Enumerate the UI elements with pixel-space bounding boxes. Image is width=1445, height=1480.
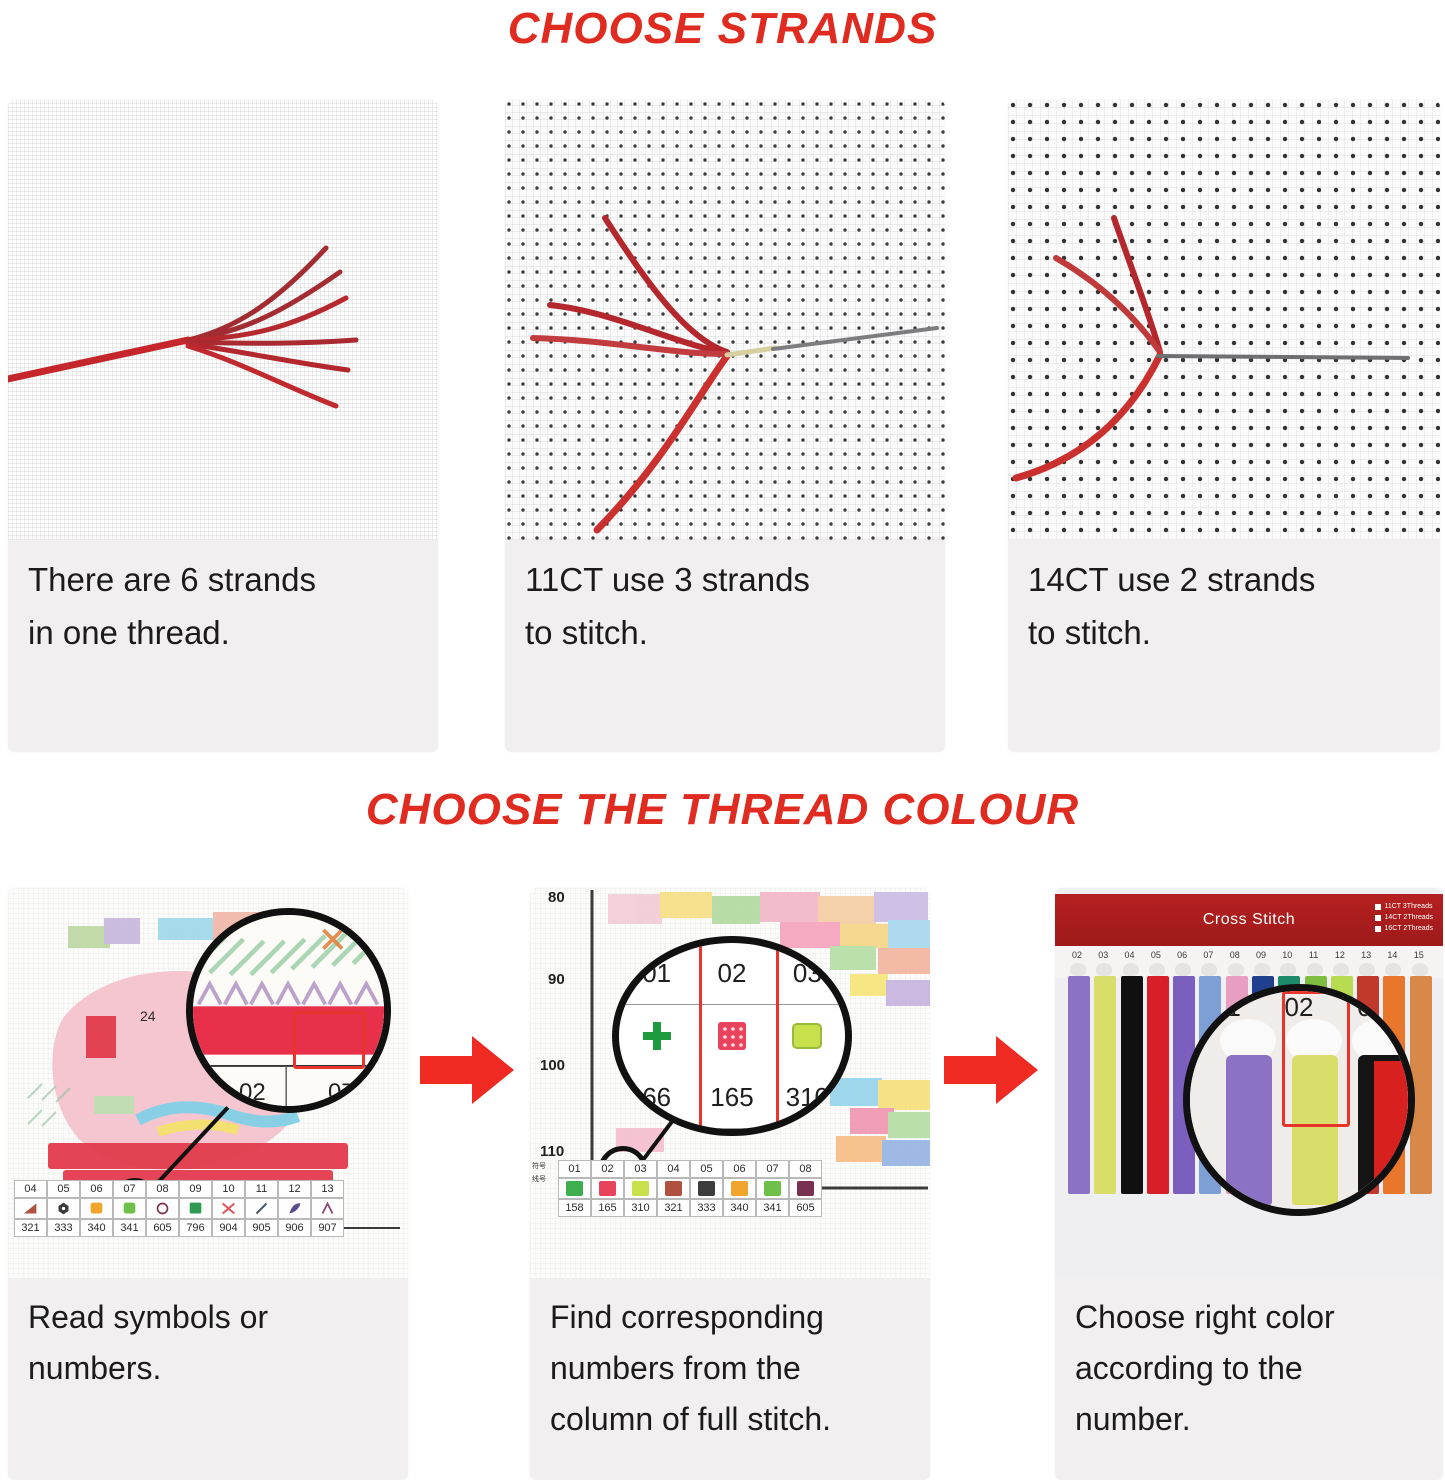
legend-header-cell: 11 — [245, 1180, 278, 1198]
legend-symbol-cell — [591, 1178, 624, 1199]
legend-number-cell: 321 — [657, 1199, 690, 1217]
caption-14ct: 14CT use 2 strands to stitch. — [1008, 540, 1440, 670]
photo-11ct-aida — [505, 100, 945, 540]
legend-symbol-cell — [789, 1178, 822, 1199]
caption-line-2: in one thread. — [28, 607, 418, 660]
thread-slot-number: 04 — [1118, 950, 1142, 960]
legend-number-cell: 340 — [80, 1219, 113, 1237]
thread-slot-hole — [1228, 963, 1244, 976]
two-strand-needle-illustration — [1008, 100, 1440, 540]
legend-number-cell: 341 — [113, 1219, 146, 1237]
photo-pattern-chart: 24 02 — [8, 888, 408, 1278]
svg-text:110: 110 — [540, 1143, 564, 1160]
pattern-chart-with-axis: 80 90 100 110 010203 — [530, 888, 930, 1278]
svg-text:24: 24 — [140, 1008, 156, 1024]
card-14ct-two-strands: 14CT use 2 strands to stitch. — [1008, 100, 1440, 752]
legend-number-cell: 605 — [146, 1219, 179, 1237]
photo-14ct-aida — [1008, 100, 1440, 540]
legend-header-cell: 08 — [789, 1160, 822, 1178]
pattern-chart: 24 02 — [8, 888, 408, 1278]
thread-slot-hole — [1070, 963, 1086, 976]
legend-header-cell: 06 — [723, 1160, 756, 1178]
legend-label-thread: 线号 — [532, 1173, 546, 1186]
checkbox-icon[interactable] — [1375, 915, 1381, 921]
thread-slot-hole — [1385, 963, 1401, 976]
thread-slot-hole — [1333, 963, 1349, 976]
legend-symbol-row-2 — [558, 1178, 822, 1199]
six-strand-thread-illustration — [8, 100, 438, 540]
legend-number-cell: 321 — [14, 1219, 47, 1237]
magnifier-zoom-circle-2: 010203 — [612, 936, 852, 1136]
thread-slot-number: 03 — [1091, 950, 1115, 960]
caption-line-1: There are 6 strands — [28, 554, 418, 607]
checkbox-label: 11CT 3Threads — [1384, 902, 1432, 913]
thread-slot-number: 12 — [1328, 950, 1352, 960]
thread-count-checkbox[interactable]: 11CT 3Threads — [1375, 902, 1433, 913]
legend-symbol-cell — [311, 1198, 344, 1219]
thread-slot-hole — [1201, 963, 1217, 976]
thread-skein — [1068, 976, 1090, 1194]
thread-slot-hole — [1096, 963, 1112, 976]
legend-symbol-cell — [657, 1178, 690, 1199]
section-heading-choose-strands: CHOOSE STRANDS — [0, 4, 1445, 54]
thread-slot-hole — [1123, 963, 1139, 976]
legend-number-cell: 333 — [690, 1199, 723, 1217]
legend-header-cell: 01 — [558, 1160, 591, 1178]
legend-table-numbers: 0102030405060708 15816531032133334034160… — [558, 1160, 822, 1217]
legend-symbol-cell — [558, 1178, 591, 1199]
legend-header-cell: 05 — [47, 1180, 80, 1198]
legend-header-cell: 04 — [657, 1160, 690, 1178]
magnified-slot-label: 01 — [1190, 993, 1263, 1021]
thread-skein — [1147, 976, 1169, 1194]
caption-line-2: to stitch. — [1028, 607, 1420, 660]
green-cross-icon — [639, 1018, 675, 1054]
legend-symbol-cell — [690, 1178, 723, 1199]
magnifier-zoom-circle-3: 010203 — [1183, 984, 1415, 1216]
legend-header-cell: 12 — [278, 1180, 311, 1198]
caption-six-strands: There are 6 strands in one thread. — [8, 540, 438, 670]
checkbox-label: 16CT 2Threads — [1384, 924, 1433, 935]
thread-slot-number: 13 — [1354, 950, 1378, 960]
photo-thread-card: Cross Stitch 11CT 3Threads14CT 2Threads1… — [1055, 888, 1443, 1278]
caption-line-3: number. — [1075, 1394, 1423, 1445]
svg-text:100: 100 — [540, 1057, 565, 1074]
arrow-right-icon-1 — [420, 1032, 516, 1108]
legend-label-symbol: 符号 — [532, 1160, 546, 1173]
legend-number-cell: 340 — [723, 1199, 756, 1217]
thread-slot-number: 05 — [1144, 950, 1168, 960]
thread-card-title: Cross Stitch — [1203, 911, 1295, 929]
legend-number-cell: 906 — [278, 1219, 311, 1237]
symbol-cell-yellowgreen-square — [770, 1005, 845, 1067]
card-11ct-three-strands: 11CT use 3 strands to stitch. — [505, 100, 945, 752]
caption-line-1: 11CT use 3 strands — [525, 554, 925, 607]
legend-symbol-cell — [146, 1198, 179, 1219]
thread-skein — [1121, 976, 1143, 1194]
legend-symbol-row — [14, 1198, 344, 1219]
thread-slot-number: 06 — [1170, 950, 1194, 960]
caption-choose-colour: Choose right color according to the numb… — [1055, 1278, 1443, 1456]
legend-header-cell: 07 — [113, 1180, 146, 1198]
legend-row-labels: 符号 线号 — [532, 1160, 546, 1187]
checkbox-icon[interactable] — [1375, 926, 1381, 932]
svg-text:80: 80 — [548, 889, 565, 906]
thread-card-slot-row: 0203040506070809101112131415 — [1055, 946, 1443, 978]
legend-number-cell: 165 — [591, 1199, 624, 1217]
card-read-symbols: 24 02 — [8, 888, 408, 1480]
magnified-number-cell: 66 — [619, 1067, 694, 1129]
thread-slot-number: 15 — [1407, 950, 1431, 960]
legend-number-cell: 905 — [245, 1219, 278, 1237]
caption-line-1: Read symbols or — [28, 1292, 388, 1343]
highlighted-column-box — [699, 939, 779, 1136]
magnified-skein-red-edge — [1374, 1061, 1408, 1181]
legend-symbol-cell — [245, 1198, 278, 1219]
legend-number-cell: 904 — [212, 1219, 245, 1237]
cross-stitch-thread-card: Cross Stitch 11CT 3Threads14CT 2Threads1… — [1055, 888, 1443, 1278]
thread-count-checkbox[interactable]: 16CT 2Threads — [1375, 924, 1433, 935]
thread-skein — [1094, 976, 1116, 1194]
legend-header-cell: 07 — [756, 1160, 789, 1178]
legend-number-cell: 333 — [47, 1219, 80, 1237]
thread-slot-number: 02 — [1065, 950, 1089, 960]
yellow-green-square-icon — [789, 1018, 825, 1054]
thread-slot-number: 08 — [1223, 950, 1247, 960]
legend-number-row-2: 158165310321333340341605 — [558, 1199, 822, 1217]
thread-slot-hole — [1280, 963, 1296, 976]
checkbox-label: 14CT 2Threads — [1384, 913, 1433, 924]
caption-line-2: numbers from the — [550, 1343, 910, 1394]
legend-header-cell: 04 — [14, 1180, 47, 1198]
legend-symbol-cell — [278, 1198, 311, 1219]
legend-header-cell: 09 — [179, 1180, 212, 1198]
thread-card-checkboxes: 11CT 3Threads14CT 2Threads16CT 2Threads — [1375, 902, 1433, 935]
legend-number-cell: 158 — [558, 1199, 591, 1217]
thread-card-header: Cross Stitch 11CT 3Threads14CT 2Threads1… — [1055, 894, 1443, 946]
legend-header-cell: 05 — [690, 1160, 723, 1178]
legend-number-cell: 796 — [179, 1219, 212, 1237]
legend-number-cell: 605 — [789, 1199, 822, 1217]
thread-slot-hole — [1359, 963, 1375, 976]
legend-number-cell: 310 — [624, 1199, 657, 1217]
caption-line-1: Choose right color — [1075, 1292, 1423, 1343]
svg-text:90: 90 — [548, 971, 565, 988]
caption-line-3: column of full stitch. — [550, 1394, 910, 1445]
section-heading-choose-thread-colour: CHOOSE THE THREAD COLOUR — [0, 785, 1445, 835]
thread-slot-hole — [1175, 963, 1191, 976]
caption-line-2: numbers. — [28, 1343, 388, 1394]
legend-number-cell: 907 — [311, 1219, 344, 1237]
legend-header-row-2: 0102030405060708 — [558, 1160, 822, 1178]
infographic-page: CHOOSE STRANDS There are 6 strands in on… — [0, 0, 1445, 1480]
legend-symbol-cell — [113, 1198, 146, 1219]
caption-line-1: 14CT use 2 strands — [1028, 554, 1420, 607]
arrow-right-icon-2 — [944, 1032, 1040, 1108]
legend-header-cell: 10 — [212, 1180, 245, 1198]
magnified-skein-01 — [1226, 1055, 1272, 1205]
checkbox-icon[interactable] — [1375, 904, 1381, 910]
caption-line-1: Find corresponding — [550, 1292, 910, 1343]
thread-slot-hole — [1254, 963, 1270, 976]
magnified-header-cell: 03 — [770, 943, 845, 1005]
caption-line-2: to stitch. — [525, 607, 925, 660]
thread-slot-hole — [1307, 963, 1323, 976]
thread-slot-number: 11 — [1302, 950, 1326, 960]
symbol-cell-green-cross — [619, 1005, 694, 1067]
legend-symbol-cell — [80, 1198, 113, 1219]
highlighted-slot-box — [1282, 991, 1350, 1127]
legend-header-row: 04050607080910111213 — [14, 1180, 344, 1198]
legend-number-row: 321333340341605796904905906907 — [14, 1219, 344, 1237]
caption-11ct: 11CT use 3 strands to stitch. — [505, 540, 945, 670]
thread-slot-hole — [1149, 963, 1165, 976]
legend-symbol-cell — [624, 1178, 657, 1199]
photo-six-strands — [8, 100, 438, 540]
card-choose-colour: Cross Stitch 11CT 3Threads14CT 2Threads1… — [1055, 888, 1443, 1480]
magnified-label-02: 02 — [239, 1079, 266, 1107]
magnifier-zoom-circle: 02 07 — [186, 908, 391, 1113]
legend-header-cell: 03 — [624, 1160, 657, 1178]
caption-read-symbols: Read symbols or numbers. — [8, 1278, 408, 1404]
caption-find-numbers: Find corresponding numbers from the colu… — [530, 1278, 930, 1456]
thread-slot-hole — [1412, 963, 1428, 976]
legend-header-cell: 02 — [591, 1160, 624, 1178]
legend-header-cell: 06 — [80, 1180, 113, 1198]
legend-symbol-cell — [756, 1178, 789, 1199]
highlighted-stitch-box — [293, 1011, 365, 1069]
legend-symbol-cell — [723, 1178, 756, 1199]
legend-symbol-cell — [212, 1198, 245, 1219]
magnified-number-cell: 310 — [770, 1067, 845, 1129]
caption-line-2: according to the — [1075, 1343, 1423, 1394]
card-find-numbers: 80 90 100 110 010203 — [530, 888, 930, 1480]
magnified-label-07: 07 — [328, 1079, 355, 1107]
card-six-strands: There are 6 strands in one thread. — [8, 100, 438, 752]
thread-slot-number: 10 — [1275, 950, 1299, 960]
three-strand-needle-illustration — [505, 100, 945, 540]
legend-symbol-cell — [14, 1198, 47, 1219]
legend-symbol-cell — [179, 1198, 212, 1219]
legend-table-symbols: 04050607080910111213 3213333403416057969… — [14, 1180, 344, 1237]
legend-number-cell: 341 — [756, 1199, 789, 1217]
legend-header-cell: 13 — [311, 1180, 344, 1198]
thread-slot-number: 14 — [1380, 950, 1404, 960]
magnified-header-cell: 01 — [619, 943, 694, 1005]
legend-symbol-cell — [47, 1198, 80, 1219]
thread-slot-number: 09 — [1249, 950, 1273, 960]
thread-count-checkbox[interactable]: 14CT 2Threads — [1375, 913, 1433, 924]
photo-pattern-chart-numbers: 80 90 100 110 010203 — [530, 888, 930, 1278]
thread-slot-number: 07 — [1196, 950, 1220, 960]
legend-header-cell: 08 — [146, 1180, 179, 1198]
